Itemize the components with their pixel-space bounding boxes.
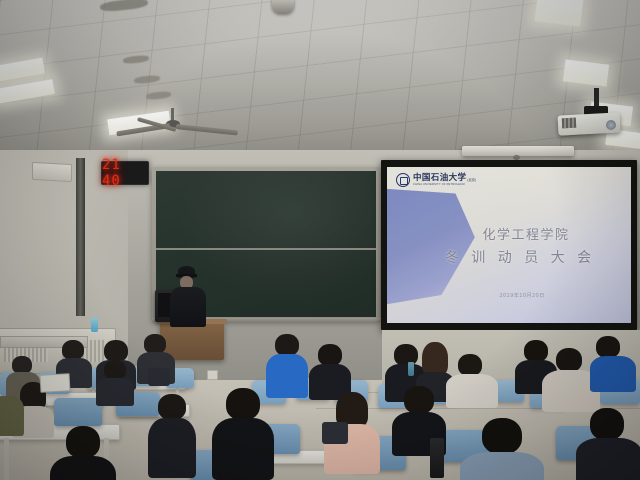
student-head <box>158 394 186 420</box>
thermos-bottle <box>430 438 444 478</box>
blackboard-divider <box>156 248 376 250</box>
wall-outlet <box>207 370 218 380</box>
student-torso <box>148 418 196 478</box>
student-torso <box>460 452 544 480</box>
student-torso <box>266 354 308 398</box>
hanging-speaker <box>272 0 294 14</box>
student-head <box>524 340 548 362</box>
student-head <box>404 386 434 414</box>
university-name-cn: 中国石油大学 <box>413 174 466 183</box>
student-torso <box>576 438 640 480</box>
student-torso <box>96 378 134 406</box>
student-head <box>226 388 260 420</box>
chair <box>54 398 102 426</box>
student-hair <box>422 342 448 376</box>
student-head <box>596 336 620 358</box>
student-torso <box>212 418 274 480</box>
projector-grill <box>562 118 577 129</box>
student-torso <box>446 374 498 408</box>
university-logo: 中国石油大学 (北京) CHINA UNIVERSITY OF PETROLEU… <box>396 173 476 187</box>
projector-lens <box>606 120 616 130</box>
slide-title: 化学工程学院 <box>387 229 631 243</box>
wall-mounted-box <box>32 162 72 182</box>
student-head <box>318 344 342 366</box>
university-seal-icon <box>396 173 410 187</box>
university-campus-tag: (北京) <box>467 177 476 182</box>
desk-leg <box>4 438 9 480</box>
clock-time: 21 40 <box>102 157 148 189</box>
student-torso <box>590 356 636 392</box>
student-head <box>144 334 166 354</box>
student-head <box>275 334 299 356</box>
presenter-torso <box>170 287 206 327</box>
fan-blade <box>176 124 238 135</box>
presenter <box>168 266 208 324</box>
slide-subtitle: 冬 训 动 员 大 会 <box>387 251 631 266</box>
ceiling-fan <box>118 108 238 144</box>
student-torso <box>0 396 24 436</box>
classroom-photo: 21 40 中国石油大学 (北京) CHINA UNIVERSITY OF PE… <box>0 0 640 480</box>
student-head <box>394 344 418 366</box>
laptop <box>40 373 71 393</box>
student-head <box>482 418 522 454</box>
student-head <box>590 408 624 440</box>
student-head <box>104 360 126 380</box>
student-head <box>556 348 582 372</box>
student-torso <box>50 456 116 480</box>
water-bottle <box>408 362 414 376</box>
slide-date: 2019年10月20日 <box>387 292 631 299</box>
backpack <box>148 368 170 386</box>
student-head <box>104 340 128 362</box>
student-head <box>62 340 84 360</box>
wall-pillar-strip <box>76 158 85 316</box>
student-head <box>458 354 482 376</box>
student-head <box>66 426 100 458</box>
presentation-slide: 中国石油大学 (北京) CHINA UNIVERSITY OF PETROLEU… <box>387 167 631 323</box>
led-clock: 21 40 <box>101 161 149 185</box>
backpack <box>322 422 348 444</box>
university-name-en: CHINA UNIVERSITY OF PETROLEUM <box>413 184 476 187</box>
water-bottle <box>91 318 98 332</box>
slide-light-wash <box>387 167 631 323</box>
